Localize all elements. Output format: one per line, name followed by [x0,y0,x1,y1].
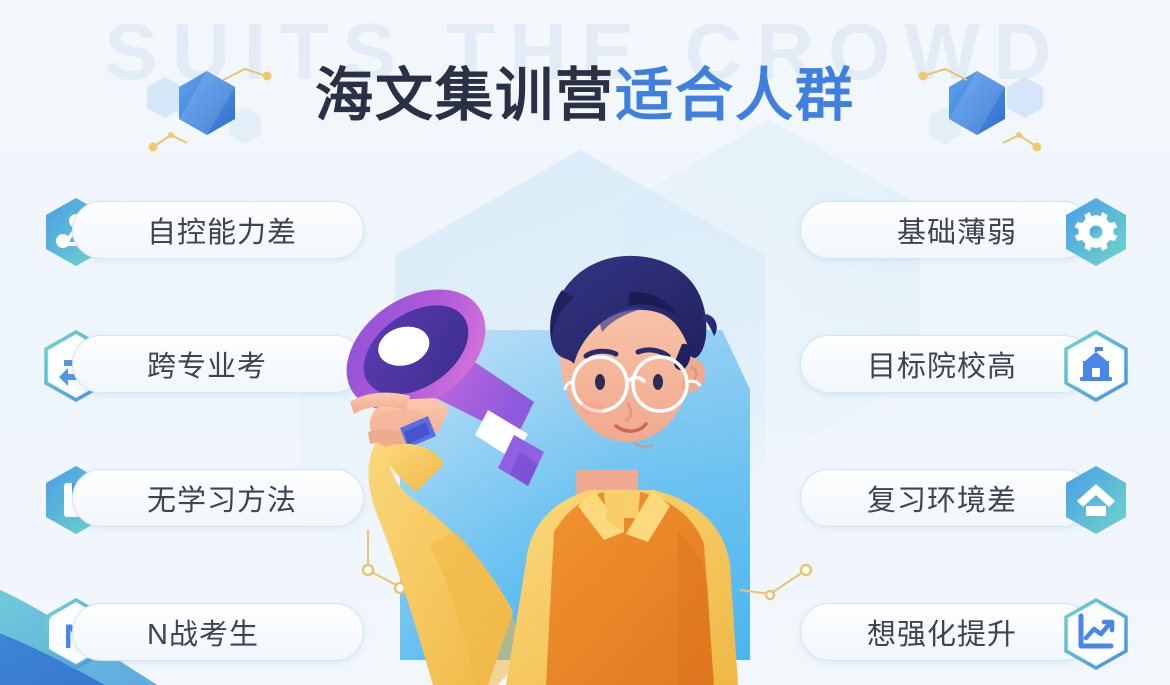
list-item-label: N战考生 [147,611,259,653]
list-item[interactable]: 基础薄弱 [800,196,1130,264]
pill-background[interactable]: 跨专业考 [72,335,364,393]
list-item-label: 想强化提升 [867,611,1017,653]
list-item[interactable]: 目标院校高 [800,330,1130,398]
pill-background[interactable]: 自控能力差 [72,201,364,259]
list-item[interactable]: 无学习方法 [42,464,372,532]
page-title: 海文集训营适合人群 [0,48,1170,132]
list-item[interactable]: 自控能力差 [42,196,372,264]
home-icon [1062,464,1130,536]
pill-background[interactable]: N战考生 [72,603,364,661]
left-feature-column: 自控能力差 跨专业考 [42,196,372,685]
list-item-label: 基础薄弱 [897,209,1017,251]
list-item[interactable]: 复习环境差 [800,464,1130,532]
pill-background[interactable]: 无学习方法 [72,469,364,527]
list-item-label: 目标院校高 [867,343,1017,385]
pill-background[interactable]: 想强化提升 [800,603,1092,661]
list-item[interactable]: 想强化提升 [800,598,1130,666]
list-item[interactable]: N N战考生 [42,598,372,666]
page-title-dark: 海文集训营 [315,63,615,128]
right-feature-column: 基础薄弱 目标院校高 [800,196,1130,685]
list-item-label: 无学习方法 [147,477,297,519]
gear-icon [1062,196,1130,268]
pill-background[interactable]: 复习环境差 [800,469,1092,527]
page-title-blue: 适合人群 [615,63,855,128]
list-item[interactable]: 跨专业考 [42,330,372,398]
list-item-label: 复习环境差 [867,477,1017,519]
school-building-icon [1062,330,1130,402]
poster-stage: SUITS THE CROWD [0,0,1170,685]
man-with-megaphone-illustration [338,232,788,685]
list-item-label: 自控能力差 [147,209,297,251]
pill-background[interactable]: 基础薄弱 [800,201,1092,259]
growth-chart-icon [1062,598,1130,670]
list-item-label: 跨专业考 [147,343,267,385]
pill-background[interactable]: 目标院校高 [800,335,1092,393]
